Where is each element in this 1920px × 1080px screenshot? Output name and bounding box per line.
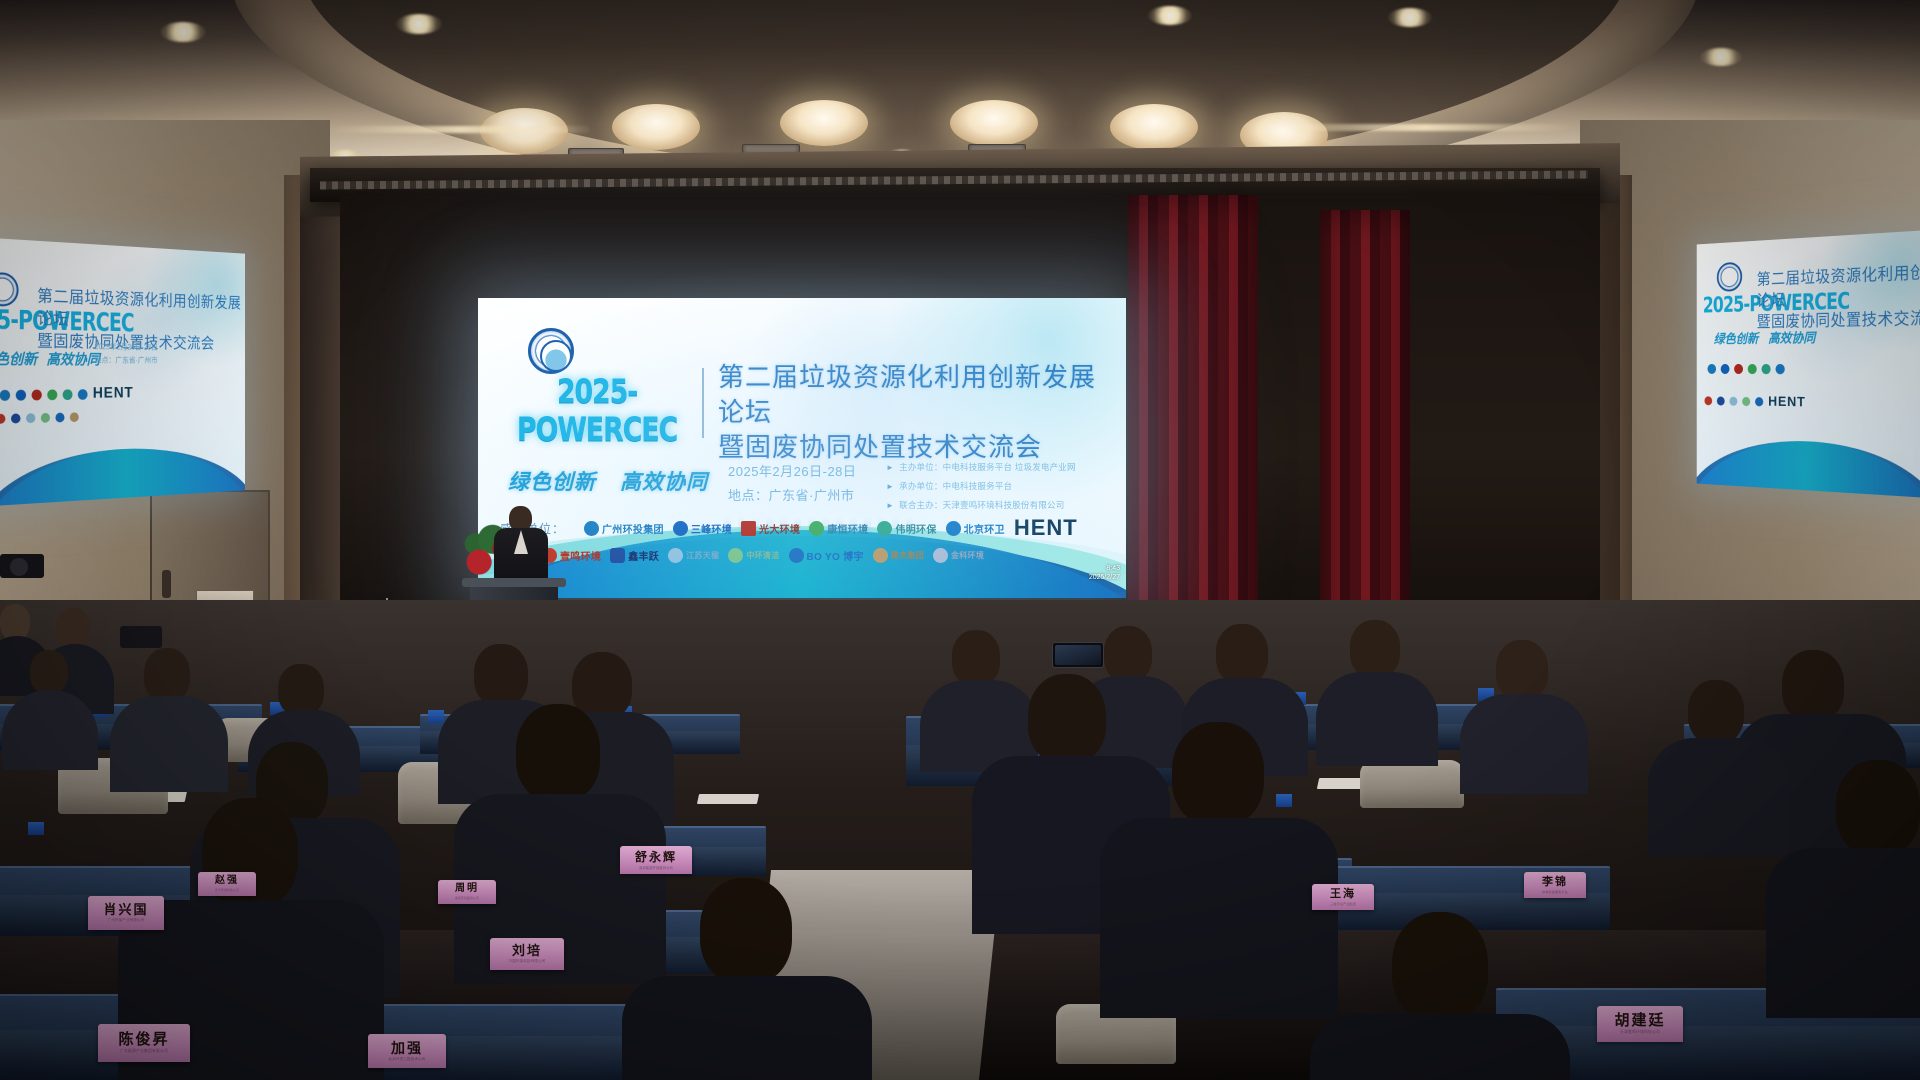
watermark-time: 8:43 [1089,564,1120,573]
document-sheet [697,794,759,804]
organizer-item: ►主办单位：中电科技服务平台 垃圾发电产业网 [886,458,1116,477]
watermark-date: 2025/2/27 [1089,573,1120,582]
nameplate-org: 北京环境工程技术公司 [389,1057,426,1062]
ceiling-downlight [1148,6,1192,25]
conference-slogan: 绿色创新 高效协同 [508,466,708,496]
ceiling-downlight [1700,48,1742,66]
person-shoulders [1100,818,1338,1018]
person-head [1104,626,1152,682]
person-head [278,664,324,716]
person-shoulders [110,696,228,792]
title-line-1: 第二届垃圾资源化利用创新发展论坛 [718,360,1114,430]
bottle-label [28,822,44,835]
sponsor-row-2 [0,412,79,424]
slogan-left: 绿色创新 [1714,329,1759,348]
sponsor-mark-icon [1742,396,1750,405]
sponsor-row-2: 壹鸣环境 鑫丰跃 江苏天楹 中环清洁 BO YO 博宇 鼎杰集团 金科环境 [542,548,984,563]
person-shoulders [1766,848,1920,1018]
sponsor-mark-icon [1717,396,1725,405]
event-date: 2025年2月26日-28日 [728,460,878,484]
sponsor-logo: 北京环卫 [946,521,1005,536]
person-shoulders [1648,738,1788,856]
slogan-left: 绿色创新 [0,348,37,369]
sponsor-logo: 金科环境 [933,548,984,563]
screen-timestamp-watermark: 8:43 2025/2/27 [1089,564,1120,582]
stage-curtain-far-right [1320,210,1410,640]
sponsor-mark-icon [11,413,20,423]
sponsor-logo: 伟明环保 [877,521,936,536]
ceiling-downlight [396,14,442,34]
led-screen-right: 2025-POWERCEC 第二届垃圾资源化利用创新发展论坛 暨固废协同处置技术… [1697,230,1920,498]
nameplate-name: 肖兴国 [103,903,148,916]
person-head [1392,912,1488,1022]
sponsor-mark-icon [610,548,625,563]
title-line-1: 第二届垃圾资源化利用创新发展论坛 [37,286,243,335]
nameplate-name: 李锦 [1542,877,1568,888]
delegate-nameplate: 周明 康恒环境股份公司 [438,880,496,904]
organizer-list: ►主办单位：中电科技服务平台 垃圾发电产业网 ►承办单位：中电科技服务平台 ►联… [886,458,1116,515]
organizer-text: 主办单位：中电科技服务平台 垃圾发电产业网 [899,462,1076,472]
bottle-label [428,710,444,723]
sponsor-mark-icon [584,521,599,536]
sponsor-mark-icon [1748,364,1757,374]
person-head [1496,640,1548,700]
person-shoulders [1310,1014,1570,1080]
event-meta: 2025年2月26日-28日 地点：广东省·广州市 [728,460,878,508]
delegate-nameplate: 陈俊昇 广东能源产业集团有限公司 [98,1024,190,1062]
nameplate-name: 刘培 [512,944,542,957]
person-head [56,608,90,648]
nameplate-name: 胡建廷 [1614,1013,1665,1028]
person-shoulders [1460,694,1588,794]
person-head [1782,650,1844,722]
nameplate-org: 中电科技服务平台 [1542,890,1568,894]
sponsor-mark-icon [933,548,948,563]
nameplate-org: 广州环保产业有限公司 [108,918,145,923]
sponsor-mark-icon [789,548,804,563]
main-projection-screen: 2025-POWERCEC 第二届垃圾资源化利用创新发展论坛 暨固废协同处置技术… [478,298,1126,598]
person-head [1836,760,1920,856]
delegate-nameplate: 加强 北京环境工程技术公司 [368,1034,446,1068]
person-head [516,704,600,802]
sponsor-row-1: HENT [0,385,134,404]
organizer-text: 联合主办：天津壹鸣环境科技股份有限公司 [899,500,1064,510]
nameplate-org: 三峰环境产业集团 [1330,902,1356,906]
sponsor-name: 鑫丰跃 [628,548,659,563]
person-shoulders [622,976,872,1080]
person-head [1172,722,1264,826]
sponsor-row-2: HENT [1704,393,1805,411]
conference-hall-scene: 2025-POWERCEC 第二届垃圾资源化利用创新发展论坛 暨固废协同处置技术… [0,0,1920,1080]
sponsor-name: 广州环投集团 [602,521,664,536]
ceiling-downlight [1388,8,1432,27]
sponsor-name: 金科环境 [951,550,984,561]
nameplate-org: 中国环保科技有限公司 [509,959,546,964]
conference-title: 第二届垃圾资源化利用创新发展论坛 暨固废协同处置技术交流会 [1757,259,1920,333]
sponsor-name: 三峰环境 [691,521,732,536]
sponsor-mark-icon [16,389,26,400]
video-camera-lens [10,558,28,576]
event-location: 地点：广东省·广州市 [728,484,878,508]
sponsor-mark-icon [873,548,888,563]
nameplate-org: 广东能源产业集团有限公司 [120,1049,168,1054]
nameplate-name: 赵强 [215,876,239,886]
nameplate-org: 光大环境科技公司 [215,888,239,892]
nameplate-name: 王海 [1330,889,1356,900]
sponsor-logo: BO YO 博宇 [789,548,864,563]
person-head [700,878,792,984]
sponsor-hent-logo: HENT [1768,394,1806,411]
person-head [144,648,190,702]
nameplate-org: 天津壹鸣环境科技公司 [1620,1030,1660,1035]
led-screen-left: 2025-POWERCEC 第二届垃圾资源化利用创新发展论坛 暨固废协同处置技术… [0,238,245,506]
sponsor-name: 中环清洁 [746,550,779,561]
sponsor-logo: 广州环投集团 [584,521,664,536]
ceiling-lamp [780,100,868,146]
slogan-left: 绿色创新 [508,466,596,496]
delegate-nameplate: 舒永辉 深圳能源环保股份公司 [620,846,692,874]
person-head [1350,620,1400,678]
slogan-right: 高效协同 [46,349,99,370]
sponsor-logo: 鼎杰集团 [873,548,924,563]
sponsor-name: 壹鸣环境 [560,548,601,563]
nameplate-name: 舒永辉 [635,851,677,863]
sponsor-name: 江苏天楹 [686,550,719,561]
sponsor-row-1: 广州环投集团 三峰环境 光大环境 康恒环境 伟明环保 北京环卫 HENT [584,515,1078,541]
sponsor-mark-icon [1704,396,1712,405]
conference-emblem-icon [528,328,574,374]
event-location: 地点：广东省·广州市 [95,353,158,368]
delegate-nameplate: 刘培 中国环保科技有限公司 [490,938,564,970]
sponsor-hent-logo: HENT [1014,515,1078,541]
sponsor-name: 康恒环境 [827,521,868,536]
person-head [1216,624,1268,684]
sponsor-name: 伟明环保 [895,521,936,536]
cove-light-strip [330,126,590,133]
sponsor-mark-icon [1729,396,1737,405]
nameplate-org: 康恒环境股份公司 [455,896,479,900]
sponsor-mark-icon [70,412,79,422]
sponsor-mark-icon [1721,364,1730,374]
nameplate-name: 周明 [455,884,479,894]
sponsor-logo: 中环清洁 [728,548,779,563]
delegate-nameplate: 肖兴国 广州环保产业有限公司 [88,896,164,930]
conference-brand-logo: 2025-POWERCEC [502,373,692,449]
ceiling-lamp [1110,104,1198,150]
slogan-right: 高效协同 [1768,328,1815,347]
delegate-nameplate: 王海 三峰环境产业集团 [1312,884,1374,910]
sponsor-name: BO YO 博宇 [807,548,864,563]
sponsor-mark-icon [1708,364,1717,374]
sponsor-mark-icon [47,389,57,400]
person-head [952,630,1000,686]
sponsor-mark-icon [0,414,5,424]
title-divider [702,368,704,438]
ceiling-downlight [160,22,206,42]
sponsor-mark-icon [26,413,35,423]
sponsor-name: 北京环卫 [964,521,1005,536]
sponsor-mark-icon [1762,364,1771,374]
sponsor-mark-icon [668,548,683,563]
ceiling-lamp [950,100,1038,146]
smartphone[interactable] [1052,642,1104,668]
camera-rig-left [120,626,162,648]
sponsor-logo: 江苏天楹 [668,548,719,563]
sponsor-logo: 康恒环境 [809,521,868,536]
sponsor-row-1 [1708,364,1785,374]
organizer-item: ►联合主办：天津壹鸣环境科技股份有限公司 [886,496,1116,515]
sponsor-name: 光大环境 [759,521,800,536]
podium-top [462,578,566,587]
bullet-arrow-icon: ► [886,501,894,510]
sponsor-mark-icon [55,413,64,423]
sponsor-mark-icon [877,521,892,536]
sponsor-mark-icon [1776,364,1785,374]
sponsor-mark-icon [78,389,88,400]
person-head [30,650,68,694]
audience-chair [1360,760,1464,808]
nameplate-name: 陈俊昇 [118,1032,169,1047]
sponsor-mark-icon [728,548,743,563]
bullet-arrow-icon: ► [886,463,894,472]
sponsor-mark-icon [41,413,50,423]
sponsor-logo: 三峰环境 [673,521,732,536]
organizer-item: ►承办单位：中电科技服务平台 [886,477,1116,496]
nameplate-name: 加强 [391,1041,423,1055]
delegate-nameplate: 胡建廷 天津壹鸣环境科技公司 [1597,1006,1683,1042]
organizer-text: 承办单位：中电科技服务平台 [899,481,1012,491]
person-shoulders [2,690,98,770]
sponsor-hent-logo: HENT [93,385,134,402]
conference-title: 第二届垃圾资源化利用创新发展论坛 暨固废协同处置技术交流会 [718,360,1114,464]
sponsor-mark-icon [741,521,756,536]
delegate-nameplate: 李锦 中电科技服务平台 [1524,872,1586,898]
person-head [474,644,528,706]
delegate-nameplate: 赵强 光大环境科技公司 [198,872,256,896]
sponsor-mark-icon [946,521,961,536]
sponsor-mark-icon [809,521,824,536]
person-head [0,604,30,640]
bullet-arrow-icon: ► [886,482,894,491]
sponsor-mark-icon [0,389,10,400]
sponsor-logo: 鑫丰跃 [610,548,659,563]
ceiling-lamp [612,104,700,150]
cove-light-strip [1280,124,1570,131]
sponsor-name: 鼎杰集团 [891,550,924,561]
sponsor-mark-icon [1734,364,1743,374]
sponsor-mark-icon [1755,397,1763,406]
person-head [1028,674,1106,764]
sponsor-mark-icon [673,521,688,536]
person-head [1688,680,1744,744]
door-handle[interactable] [162,570,171,598]
nameplate-org: 深圳能源环保股份公司 [639,865,673,870]
sponsor-mark-icon [63,389,73,400]
sponsor-logo: 光大环境 [741,521,800,536]
slogan-right: 高效协同 [620,466,708,496]
bottle-label [1276,794,1292,807]
sponsor-mark-icon [32,389,42,400]
person-shoulders [1316,672,1438,766]
